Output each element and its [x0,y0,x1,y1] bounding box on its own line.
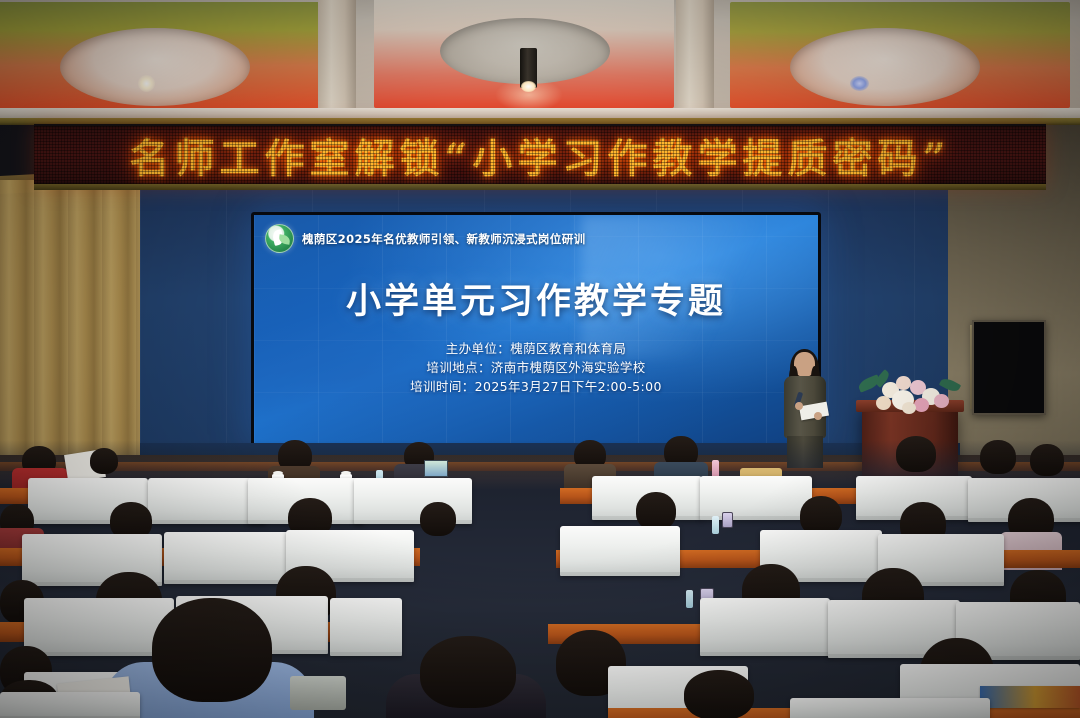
audience-head [90,448,118,474]
ceiling-dome-right [790,28,980,106]
ceiling-dome-left [60,28,250,106]
desk-bottle [712,516,719,534]
audience-head [896,436,936,472]
curtain-left [0,180,148,480]
slide-header-text: 槐荫区2025年名优教师引领、新教师沉浸式岗位研训 [302,231,586,247]
desk-laptop [424,460,448,477]
chair-cover [560,526,680,576]
audience-head [1030,444,1064,476]
desk-handbag [290,676,346,710]
led-banner: 名师工作室解锁“小学习作教学提质密码” [34,124,1046,187]
audience-head-foreground [152,598,272,702]
presenter-hand-right [814,412,822,420]
slide-detail-location: 培训地点：济南市槐荫区外海实验学校 [254,358,818,377]
led-banner-text: 名师工作室解锁“小学习作教学提质密码” [34,126,1046,184]
slide-header: 槐荫区2025年名优教师引领、新教师沉浸式岗位研训 [265,224,586,253]
ceiling-beam-right [676,0,714,112]
audience-head-foreground [420,636,516,708]
led-banner-trim [34,184,1046,190]
audience-head [636,492,676,530]
presenter-hand-left [795,402,803,410]
projection-screen: 槐荫区2025年名优教师引领、新教师沉浸式岗位研训 小学单元习作教学专题 主办单… [254,215,818,445]
chair-cover [0,692,140,718]
chair-cover [700,476,812,520]
pendant-spotlight-icon [520,48,537,88]
audience-head [684,670,754,718]
audience-head [420,502,456,536]
flower-arrangement [856,372,964,418]
slide-detail-organizer: 主办单位：槐荫区教育和体育局 [254,339,818,358]
chair-cover [700,598,830,656]
ceiling-beam-left [318,0,356,112]
conference-hall-photo: 名师工作室解锁“小学习作教学提质密码” 槐荫区2025年名优教师引领、新教师沉浸… [0,0,1080,718]
desk-phone [722,512,733,528]
slide-title: 小学单元习作教学专题 [254,273,818,324]
ceiling-downlight-left [138,75,155,92]
chair-cover [164,532,300,584]
audience-head [980,440,1016,474]
huaiyin-education-logo-icon [265,224,294,253]
desk-bottle [686,590,693,608]
chair-cover [330,598,402,656]
ceiling [0,0,1080,112]
desk-book [980,686,1080,708]
ceiling-downlight-right [850,76,869,91]
chair-cover [790,698,990,718]
projection-screen-bezel: 槐荫区2025年名优教师引领、新教师沉浸式岗位研训 小学单元习作教学专题 主办单… [251,212,821,448]
slide-detail-time: 培训时间：2025年3月27日下午2:00-5:00 [254,377,818,396]
slide-details: 主办单位：槐荫区教育和体育局 培训地点：济南市槐荫区外海实验学校 培训时间：20… [254,339,818,396]
audience-seating [0,440,1080,718]
wall-mounted-dark-panel [972,320,1046,415]
